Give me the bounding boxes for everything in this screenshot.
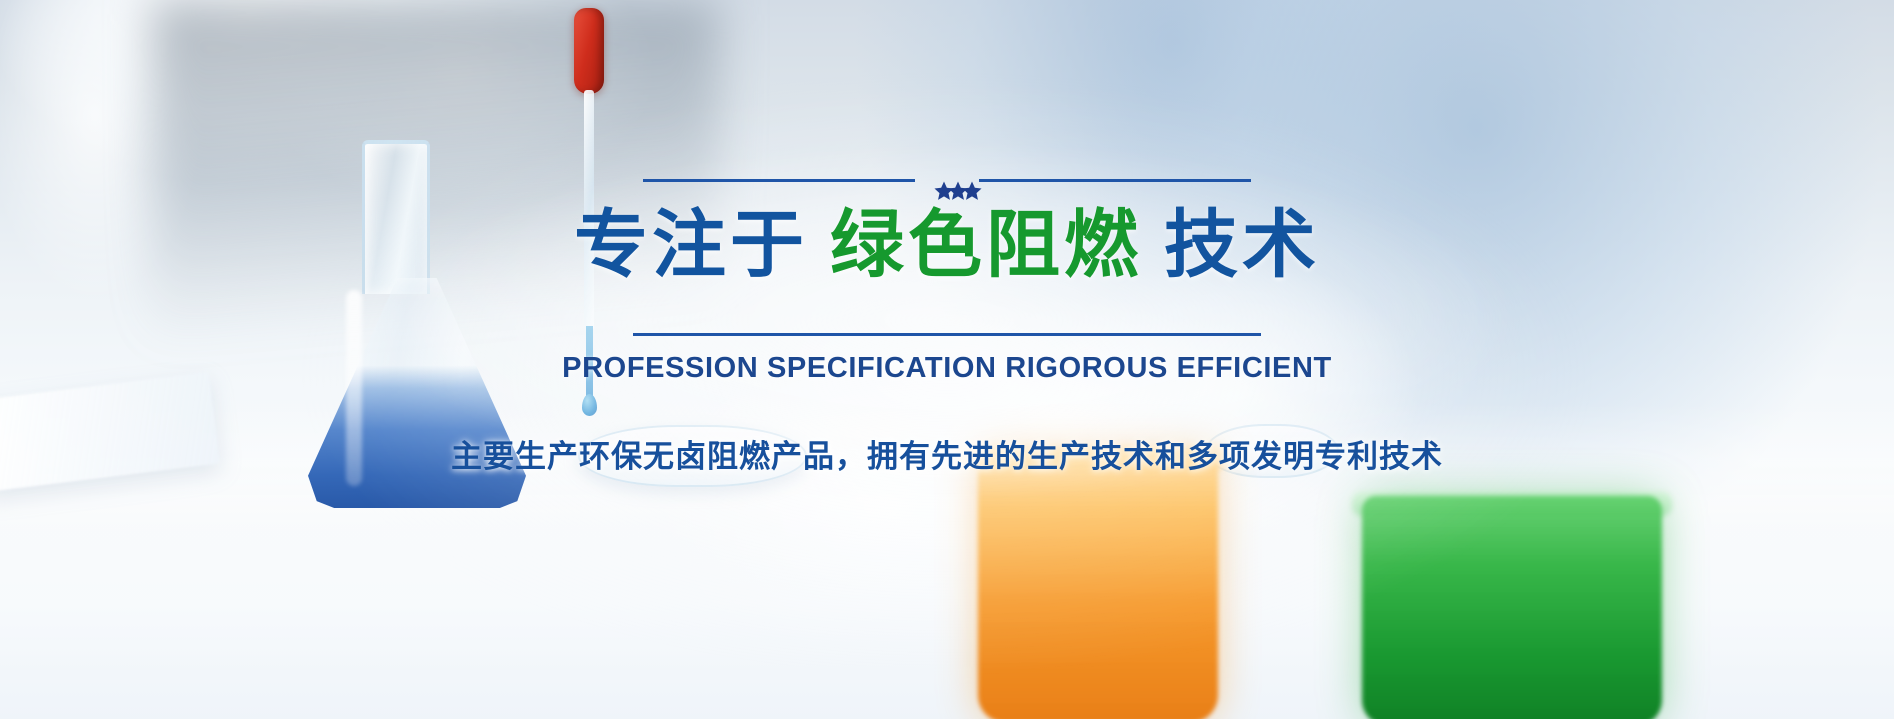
horizontal-rule-underline (633, 333, 1261, 336)
page-title: 专注于绿色阻燃技术 (0, 206, 1894, 284)
hero-banner: 专注于绿色阻燃技术 PROFESSION SPECIFICATION RIGOR… (0, 0, 1894, 719)
description-chinese: 主要生产环保无卤阻燃产品，拥有先进的生产技术和多项发明专利技术 (0, 431, 1894, 476)
horizontal-rule-right (979, 179, 1251, 182)
headline-part-2: 绿色阻燃 (830, 203, 1142, 286)
banner-content: 专注于绿色阻燃技术 PROFESSION SPECIFICATION RIGOR… (0, 168, 1894, 476)
headline-part-3: 技术 (1164, 203, 1320, 286)
decor-rule-row (0, 168, 1894, 192)
headline-part-1: 专注于 (574, 203, 808, 286)
horizontal-rule-left (643, 179, 915, 182)
subtitle-english: PROFESSION SPECIFICATION RIGOROUS EFFICI… (0, 352, 1894, 385)
